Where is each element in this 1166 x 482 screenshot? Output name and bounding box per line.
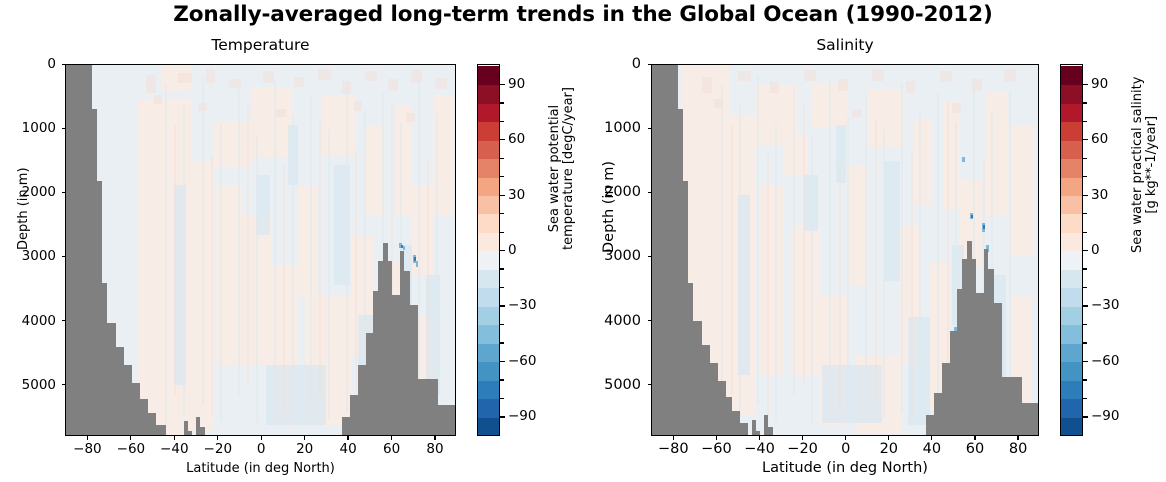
- xtick-mark: [974, 436, 975, 440]
- colorbar-band: [1061, 288, 1082, 307]
- colorbar-minor-tick: [1083, 232, 1087, 233]
- colorbar-band: [1061, 417, 1082, 436]
- colorbar-tick-label: 60: [508, 131, 525, 147]
- ytick-mark: [62, 128, 66, 129]
- colorbar-band: [478, 288, 499, 307]
- xtick-mark: [130, 436, 131, 440]
- xtick-mark: [931, 436, 932, 440]
- xtick-label: −80: [73, 441, 102, 457]
- colorbar-major-tick: [500, 361, 505, 362]
- xtick-mark: [174, 436, 175, 440]
- salinity-field: [652, 65, 1039, 436]
- panel-salinity: Salinity: [583, 0, 1166, 482]
- colorbar-minor-tick: [1083, 324, 1087, 325]
- ytick-mark: [648, 384, 652, 385]
- colorbar-minor-tick: [500, 121, 504, 122]
- colorbar-band: [1061, 214, 1082, 233]
- colorbar-minor-tick: [500, 379, 504, 380]
- colorbar-minor-tick: [1083, 213, 1087, 214]
- temperature-field: [66, 65, 456, 436]
- colorbar-tick-label: −60: [508, 353, 537, 369]
- colorbar-major-tick: [1083, 416, 1088, 417]
- colorbar-tick-label: 0: [508, 242, 517, 258]
- colorbar-band: [1061, 269, 1082, 288]
- ytick-label: 1000: [0, 120, 56, 136]
- colorbar-band: [478, 214, 499, 233]
- panel-title-temperature: Temperature: [65, 36, 456, 54]
- colorbar-band: [478, 85, 499, 104]
- colorbar-minor-tick: [500, 342, 504, 343]
- colorbar-tick-label: 30: [508, 187, 525, 203]
- colorbar-major-tick: [500, 416, 505, 417]
- colorbar-band: [478, 233, 499, 252]
- xtick-label: −20: [204, 441, 233, 457]
- xaxis-label-temperature: Latitude (in deg North): [65, 461, 456, 476]
- ytick-mark: [62, 256, 66, 257]
- ytick-mark: [648, 64, 652, 65]
- xtick-label: 0: [841, 441, 850, 457]
- colorbar-band: [1061, 362, 1082, 381]
- colorbar-band: [1061, 103, 1082, 122]
- xtick-mark: [845, 436, 846, 440]
- xtick-mark: [87, 436, 88, 440]
- colorbar-band: [1061, 196, 1082, 215]
- xtick-label: 0: [257, 441, 266, 457]
- colorbar-tick-label: −60: [1091, 353, 1120, 369]
- colorbar-band: [1061, 122, 1082, 141]
- colorbar-minor-tick: [1083, 268, 1087, 269]
- colorbar-band: [1061, 233, 1082, 252]
- ytick-mark: [648, 192, 652, 193]
- colorbar-minor-tick: [1083, 379, 1087, 380]
- xtick-label: −80: [658, 441, 689, 457]
- colorbar-band: [478, 140, 499, 159]
- xtick-label: −20: [787, 441, 818, 457]
- colorbar-tick-label: −90: [508, 408, 537, 424]
- colorbar-band: [478, 380, 499, 399]
- colorbar-minor-tick: [500, 324, 504, 325]
- colorbar-band: [478, 306, 499, 325]
- ytick-label: 1000: [583, 120, 641, 136]
- ytick-mark: [62, 192, 66, 193]
- ytick-mark: [648, 320, 652, 321]
- ytick-label: 3000: [0, 248, 56, 264]
- xtick-mark: [759, 436, 760, 440]
- colorbar-major-tick: [500, 305, 505, 306]
- colorbar-major-tick: [1083, 84, 1088, 85]
- colorbar-tick-label: 90: [1091, 76, 1108, 92]
- colorbar-band: [478, 399, 499, 418]
- colorbar-minor-tick: [500, 213, 504, 214]
- colorbar-minor-tick: [1083, 121, 1087, 122]
- colorbar-band: [1061, 380, 1082, 399]
- colorbar-tick-label: −30: [1091, 297, 1120, 313]
- xtick-label: −60: [117, 441, 146, 457]
- xtick-mark: [347, 436, 348, 440]
- colorbar-tick-label: 60: [1091, 131, 1108, 147]
- colorbar-minor-tick: [1083, 398, 1087, 399]
- colorbar-band: [1061, 325, 1082, 344]
- xtick-label: −40: [744, 441, 775, 457]
- colorbar-band: [478, 177, 499, 196]
- colorbar-tick-label: 30: [1091, 187, 1108, 203]
- ytick-mark: [62, 384, 66, 385]
- colorbar-band: [478, 159, 499, 178]
- colorbar-band: [1061, 306, 1082, 325]
- colorbar-minor-tick: [1083, 342, 1087, 343]
- ytick-label: 0: [583, 56, 641, 72]
- colorbar-minor-tick: [1083, 287, 1087, 288]
- colorbar-band: [1061, 66, 1082, 85]
- yaxis-label-temperature: Depth (in m): [16, 167, 31, 250]
- colorbar-band: [478, 269, 499, 288]
- ytick-mark: [62, 64, 66, 65]
- colorbar-tick-label: −30: [508, 297, 537, 313]
- xtick-mark: [261, 436, 262, 440]
- xtick-label: 20: [880, 441, 898, 457]
- xtick-label: −60: [701, 441, 732, 457]
- xtick-mark: [673, 436, 674, 440]
- xaxis-label-salinity: Latitude (in deg North): [651, 460, 1039, 476]
- ytick-label: 0: [0, 56, 56, 72]
- ytick-mark: [648, 256, 652, 257]
- colorbar-major-tick: [1083, 305, 1088, 306]
- colorbar-band: [1061, 85, 1082, 104]
- colorbar-minor-tick: [500, 268, 504, 269]
- colorbar-major-tick: [500, 139, 505, 140]
- colorbar-minor-tick: [1083, 102, 1087, 103]
- colorbar-major-tick: [1083, 361, 1088, 362]
- colorbar-band: [478, 362, 499, 381]
- colorbar-band: [1061, 140, 1082, 159]
- colorbar-label-temperature: Sea water potential temperature [degC/ye…: [548, 87, 576, 250]
- colorbar-band: [478, 417, 499, 436]
- xtick-label: 60: [966, 441, 984, 457]
- ytick-label: 4000: [0, 313, 56, 329]
- xtick-label: 60: [383, 441, 400, 457]
- colorbar-minor-tick: [500, 102, 504, 103]
- xtick-label: 80: [1009, 441, 1027, 457]
- colorbar-band: [478, 122, 499, 141]
- colorbar-minor-tick: [1083, 176, 1087, 177]
- colorbar-band: [1061, 399, 1082, 418]
- panel-title-salinity: Salinity: [651, 36, 1039, 54]
- colorbar-major-tick: [1083, 250, 1088, 251]
- colorbar-major-tick: [1083, 139, 1088, 140]
- colorbar-band: [1061, 177, 1082, 196]
- colorbar-band: [1061, 251, 1082, 270]
- ytick-label: 4000: [583, 313, 641, 329]
- xtick-mark: [434, 436, 435, 440]
- colorbar-minor-tick: [500, 176, 504, 177]
- panel-temperature: Temperature: [0, 0, 583, 482]
- xtick-mark: [1017, 436, 1018, 440]
- xtick-mark: [802, 436, 803, 440]
- yaxis-label-salinity: Depth (in m): [601, 161, 617, 253]
- figure-canvas: Zonally-averaged long-term trends in the…: [0, 0, 1166, 482]
- xtick-mark: [304, 436, 305, 440]
- colorbar-minor-tick: [500, 158, 504, 159]
- xtick-label: 20: [296, 441, 313, 457]
- colorbar-band: [478, 196, 499, 215]
- colorbar-temperature: [477, 64, 500, 436]
- colorbar-minor-tick: [500, 232, 504, 233]
- colorbar-major-tick: [500, 250, 505, 251]
- xtick-label: 80: [426, 441, 443, 457]
- colorbar-band: [1061, 159, 1082, 178]
- xtick-label: −40: [160, 441, 189, 457]
- colorbar-minor-tick: [500, 398, 504, 399]
- xtick-mark: [217, 436, 218, 440]
- ytick-label: 5000: [583, 377, 641, 393]
- xtick-mark: [888, 436, 889, 440]
- colorbar-major-tick: [1083, 195, 1088, 196]
- colorbar-band: [478, 325, 499, 344]
- colorbar-major-tick: [500, 84, 505, 85]
- colorbar-salinity: [1060, 64, 1083, 436]
- xtick-label: 40: [923, 441, 941, 457]
- ytick-label: 5000: [0, 377, 56, 393]
- colorbar-band: [478, 251, 499, 270]
- xtick-mark: [391, 436, 392, 440]
- colorbar-tick-label: 0: [1091, 242, 1100, 258]
- ytick-mark: [62, 320, 66, 321]
- colorbar-band: [478, 66, 499, 85]
- colorbar-minor-tick: [1083, 158, 1087, 159]
- plot-area-salinity: [651, 64, 1039, 436]
- colorbar-band: [1061, 343, 1082, 362]
- xtick-mark: [716, 436, 717, 440]
- plot-area-temperature: [65, 64, 456, 436]
- ytick-mark: [648, 128, 652, 129]
- colorbar-minor-tick: [500, 287, 504, 288]
- colorbar-tick-label: −90: [1091, 408, 1120, 424]
- colorbar-band: [478, 343, 499, 362]
- colorbar-band: [478, 103, 499, 122]
- colorbar-major-tick: [500, 195, 505, 196]
- xtick-label: 40: [340, 441, 357, 457]
- colorbar-label-salinity: Sea water practical salinity [g kg**-1/y…: [1131, 77, 1159, 253]
- colorbar-tick-label: 90: [508, 76, 525, 92]
